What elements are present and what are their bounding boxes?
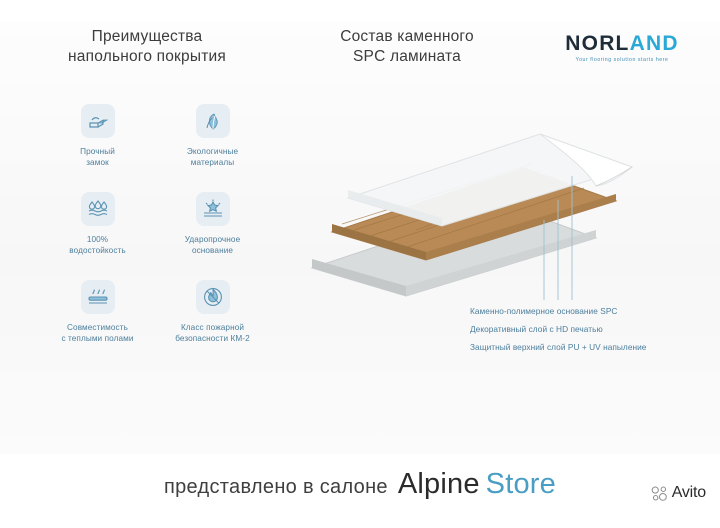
benefit-label: Экологичные материалы	[187, 146, 238, 168]
fire-safety-icon	[196, 280, 230, 314]
avito-logo-icon	[651, 485, 668, 502]
top-white-band	[0, 0, 720, 22]
callout-decor-layer: Декоративный слой с HD печатью	[470, 324, 710, 335]
avito-watermark-text: Avito	[672, 484, 706, 502]
callout-spc-core: Каменно-полимерное основание SPC	[470, 306, 710, 317]
impact-icon	[196, 192, 230, 226]
footer-prefix: представлено в салоне	[164, 476, 388, 498]
benefit-label: Ударопрочное основание	[185, 234, 240, 256]
footer-brand-first: Alpine	[398, 468, 480, 500]
lock-icon	[81, 104, 115, 138]
benefit-item: Класс пожарной безопасности КМ-2	[155, 280, 270, 368]
avito-watermark: Avito	[651, 484, 706, 502]
benefits-heading: Преимущества напольного покрытия	[22, 27, 272, 67]
promo-image: Преимущества напольного покрытия Состав …	[0, 0, 720, 528]
water-drops-icon	[81, 192, 115, 226]
logo-word-accent: AND	[630, 32, 679, 55]
spc-laminate-illustration	[296, 100, 688, 300]
benefit-label: Совместимость с теплыми полами	[61, 322, 133, 344]
footer-caption: представлено в салонеAlpineStore	[0, 468, 720, 501]
underfloor-heating-icon	[81, 280, 115, 314]
logo-wordmark: NORLAND	[552, 33, 692, 55]
benefit-item: Ударопрочное основание	[155, 192, 270, 280]
footer-brand-second: Store	[486, 468, 556, 500]
benefit-item: Совместимость с теплыми полами	[40, 280, 155, 368]
benefits-grid: Прочный замок Экологичные материалы	[40, 104, 270, 368]
composition-heading: Состав каменного SPC ламината	[292, 27, 522, 67]
norland-logo: NORLAND Your flooring solution starts he…	[552, 33, 692, 63]
benefit-item: Прочный замок	[40, 104, 155, 192]
leaf-icon	[196, 104, 230, 138]
callouts-list: Каменно-полимерное основание SPC Декорат…	[470, 306, 710, 360]
benefit-item: 100% водостойкость	[40, 192, 155, 280]
benefit-item: Экологичные материалы	[155, 104, 270, 192]
benefit-label: 100% водостойкость	[69, 234, 125, 256]
logo-word-main: NORL	[565, 32, 629, 55]
logo-tagline: Your flooring solution starts here	[552, 57, 692, 63]
benefit-label: Класс пожарной безопасности КМ-2	[175, 322, 250, 344]
benefit-label: Прочный замок	[80, 146, 115, 168]
callout-protective-layer: Защитный верхний слой PU + UV напыление	[470, 342, 710, 353]
